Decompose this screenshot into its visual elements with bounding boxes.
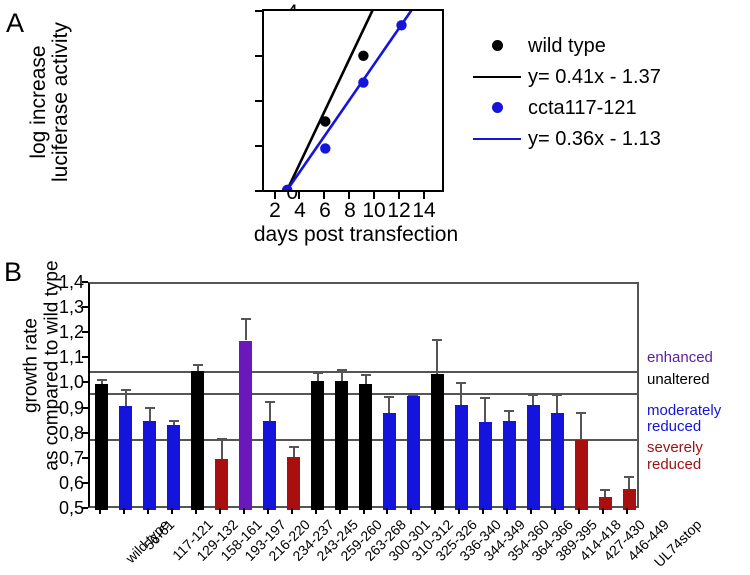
error-cap-427-430 bbox=[576, 412, 586, 414]
panel-b-letter: B bbox=[4, 259, 22, 286]
error-bar-354-360 bbox=[484, 397, 486, 422]
panel-b-ytick-2: 0,7 bbox=[38, 449, 84, 467]
panel-a-xtick-mark-8 bbox=[348, 192, 350, 199]
error-cap-364-366 bbox=[504, 410, 514, 412]
fit-line-ccta117-121 bbox=[287, 11, 416, 190]
panel-b-xtick-mark-21 bbox=[602, 508, 604, 514]
data-point-wt-d9 bbox=[358, 51, 368, 61]
bar-117-121 bbox=[143, 421, 156, 510]
panel-b-xtick-mark-22 bbox=[626, 508, 628, 514]
legend-label-ccta117-121: ccta117-121 bbox=[524, 98, 637, 118]
panel-b-ytick-3: 0,8 bbox=[38, 424, 84, 442]
bar-129-132 bbox=[167, 425, 180, 510]
error-cap-158-161 bbox=[193, 364, 203, 366]
panel-a-plot-svg bbox=[264, 11, 442, 190]
error-cap-56-61 bbox=[121, 389, 131, 391]
panel-a-x-axis-label: days post transfection bbox=[216, 224, 496, 245]
error-bar-216-220 bbox=[245, 318, 247, 341]
panel-b-xtick-mark-10 bbox=[339, 508, 341, 514]
fit-line-wild-type bbox=[287, 11, 378, 190]
bar-364-366 bbox=[503, 421, 516, 510]
error-cap-325-326 bbox=[408, 394, 418, 396]
panel-b-bars-layer bbox=[90, 284, 637, 506]
panel-b-xtick-mark-3 bbox=[171, 508, 173, 514]
legend-row-ccta117-121: ccta117-121 bbox=[470, 92, 740, 123]
panel-b-xtick-mark-14 bbox=[434, 508, 436, 514]
panel-b-ytick-5: 1,0 bbox=[38, 373, 84, 391]
panel-a-ytick-mark-2 bbox=[255, 100, 262, 102]
x-axis-label-56-61: 56-61 bbox=[141, 517, 176, 552]
panel-a-ytick-mark-3 bbox=[255, 55, 262, 57]
panel-b-xtick-mark-18 bbox=[530, 508, 532, 514]
error-bar-310-312 bbox=[388, 396, 390, 414]
reference-line-enhanced bbox=[90, 371, 637, 373]
error-cap-129-132 bbox=[169, 420, 179, 422]
annotation-moderately-reduced: moderately reduced bbox=[647, 403, 721, 437]
legend-label-ccta117-121-fit: y= 0.36x - 1.13 bbox=[524, 129, 661, 149]
error-cap-234-237 bbox=[265, 401, 275, 403]
panel-a-xtick-mark-2 bbox=[274, 192, 276, 199]
panel-b-xtick-mark-0 bbox=[99, 508, 101, 514]
data-point-mut-d12 bbox=[396, 20, 406, 30]
panel-b-ytick-1: 0,6 bbox=[38, 474, 84, 492]
error-bar-427-430 bbox=[580, 412, 582, 440]
annotation-enhanced: enhanced bbox=[647, 350, 713, 367]
panel-a-xtick-mark-10 bbox=[373, 192, 375, 199]
panel-b-xtick-mark-1 bbox=[123, 508, 125, 514]
panel-b-xtick-mark-15 bbox=[458, 508, 460, 514]
error-bar-414-418 bbox=[556, 394, 558, 413]
bar-446-449 bbox=[599, 497, 612, 510]
bar-354-360 bbox=[479, 422, 492, 510]
panel-a-letter: A bbox=[6, 10, 24, 37]
legend-marker-dot-icon bbox=[470, 40, 524, 51]
error-cap-UL74stop bbox=[624, 476, 634, 478]
panel-b-xtick-mark-11 bbox=[363, 508, 365, 514]
bar-158-161 bbox=[191, 371, 204, 510]
error-cap-263-268 bbox=[337, 369, 347, 371]
panel-a-xtick-mark-12 bbox=[398, 192, 400, 199]
error-cap-310-312 bbox=[384, 396, 394, 398]
bar-310-312 bbox=[383, 413, 396, 510]
legend-marker-line-icon bbox=[470, 76, 524, 78]
panel-b-xtick-mark-17 bbox=[506, 508, 508, 514]
panel-b-ytick-0: 0,5 bbox=[38, 499, 84, 517]
panel-b-xtick-mark-20 bbox=[578, 508, 580, 514]
error-cap-389-395 bbox=[528, 394, 538, 396]
bar-300-301 bbox=[359, 384, 372, 510]
legend-marker-dot-blue-icon bbox=[470, 102, 524, 113]
error-cap-259-260 bbox=[313, 372, 323, 374]
panel-b-xtick-mark-7 bbox=[267, 508, 269, 514]
error-cap-336-340 bbox=[432, 339, 442, 341]
legend-label-wild-type-fit: y= 0.41x - 1.37 bbox=[524, 67, 661, 87]
legend-label-wild-type: wild type bbox=[524, 36, 606, 56]
error-cap-344-349 bbox=[456, 382, 466, 384]
panel-a-legend: wild type y= 0.41x - 1.37 ccta117-121 y=… bbox=[470, 30, 740, 154]
legend-marker-line-blue-icon bbox=[470, 138, 524, 140]
bar-259-260 bbox=[311, 381, 324, 510]
legend-row-wild-type: wild type bbox=[470, 30, 740, 61]
panel-b-ytick-4: 0,9 bbox=[38, 399, 84, 417]
bar-414-418 bbox=[551, 413, 564, 510]
panel-b-xtick-mark-6 bbox=[243, 508, 245, 514]
error-cap-216-220 bbox=[241, 318, 251, 320]
panel-b-xtick-mark-9 bbox=[315, 508, 317, 514]
error-bar-344-349 bbox=[460, 382, 462, 405]
panel-b: B growth rate as compared to wild type 0… bbox=[0, 250, 750, 575]
panel-b-plot-area bbox=[88, 282, 639, 508]
panel-a-ytick-mark-0 bbox=[255, 190, 262, 192]
panel-b-xtick-mark-13 bbox=[410, 508, 412, 514]
bar-389-395 bbox=[527, 405, 540, 510]
panel-b-ytick-7: 1,2 bbox=[38, 323, 84, 341]
panel-a-ytick-mark-4 bbox=[255, 10, 262, 12]
panel-b-xtick-mark-5 bbox=[219, 508, 221, 514]
error-cap-414-418 bbox=[552, 394, 562, 396]
panel-b-ytick-6: 1,1 bbox=[38, 348, 84, 366]
bar-193-197 bbox=[215, 459, 228, 510]
error-cap-193-197 bbox=[217, 438, 227, 440]
data-point-mut-d9 bbox=[358, 77, 368, 87]
panel-b-xtick-mark-2 bbox=[147, 508, 149, 514]
panel-a-xtick-mark-6 bbox=[323, 192, 325, 199]
bar-325-326 bbox=[407, 396, 420, 510]
bar-216-220 bbox=[239, 341, 252, 511]
error-cap-wild-type bbox=[97, 379, 107, 381]
bar-wild-type bbox=[95, 384, 108, 510]
error-bar-336-340 bbox=[436, 339, 438, 374]
bar-427-430 bbox=[575, 440, 588, 510]
legend-row-wild-type-fit: y= 0.41x - 1.37 bbox=[470, 61, 740, 92]
bar-234-237 bbox=[263, 421, 276, 510]
panel-a-y-axis-label: log increase luciferase activity bbox=[28, 0, 72, 212]
data-point-wt-d6 bbox=[320, 116, 330, 126]
bar-344-349 bbox=[455, 405, 468, 510]
panel-b-xtick-mark-8 bbox=[291, 508, 293, 514]
data-point-mut-d6 bbox=[320, 143, 330, 153]
annotation-severely-reduced: severely reduced bbox=[647, 440, 703, 474]
error-bar-193-197 bbox=[221, 438, 223, 458]
panel-a-ytick-mark-1 bbox=[255, 145, 262, 147]
bar-263-268 bbox=[335, 381, 348, 510]
error-bar-56-61 bbox=[125, 389, 127, 405]
panel-b-xtick-mark-12 bbox=[386, 508, 388, 514]
error-cap-243-245 bbox=[289, 446, 299, 448]
bar-56-61 bbox=[119, 406, 132, 510]
panel-a-xtick-14: 14 bbox=[409, 200, 439, 221]
panel-a: A log increase luciferase activity 0 1 2… bbox=[0, 0, 750, 250]
panel-b-xtick-mark-16 bbox=[482, 508, 484, 514]
panel-a-xtick-mark-14 bbox=[423, 192, 425, 199]
bar-336-340 bbox=[431, 374, 444, 510]
panel-b-xtick-mark-19 bbox=[554, 508, 556, 514]
panel-a-plot-area bbox=[262, 9, 444, 192]
bar-UL74stop bbox=[623, 489, 636, 510]
error-cap-117-121 bbox=[145, 407, 155, 409]
annotation-unaltered: unaltered bbox=[647, 372, 710, 389]
error-bar-117-121 bbox=[149, 407, 151, 421]
panel-b-ytick-9: 1,4 bbox=[38, 273, 84, 291]
error-cap-354-360 bbox=[480, 397, 490, 399]
panel-b-xtick-mark-4 bbox=[195, 508, 197, 514]
panel-b-ytick-8: 1,3 bbox=[38, 298, 84, 316]
error-cap-300-301 bbox=[361, 374, 371, 376]
error-bar-234-237 bbox=[269, 401, 271, 421]
panel-a-xtick-mark-4 bbox=[298, 192, 300, 199]
bar-243-245 bbox=[287, 457, 300, 510]
error-cap-446-449 bbox=[600, 489, 610, 491]
legend-row-ccta117-121-fit: y= 0.36x - 1.13 bbox=[470, 123, 740, 154]
